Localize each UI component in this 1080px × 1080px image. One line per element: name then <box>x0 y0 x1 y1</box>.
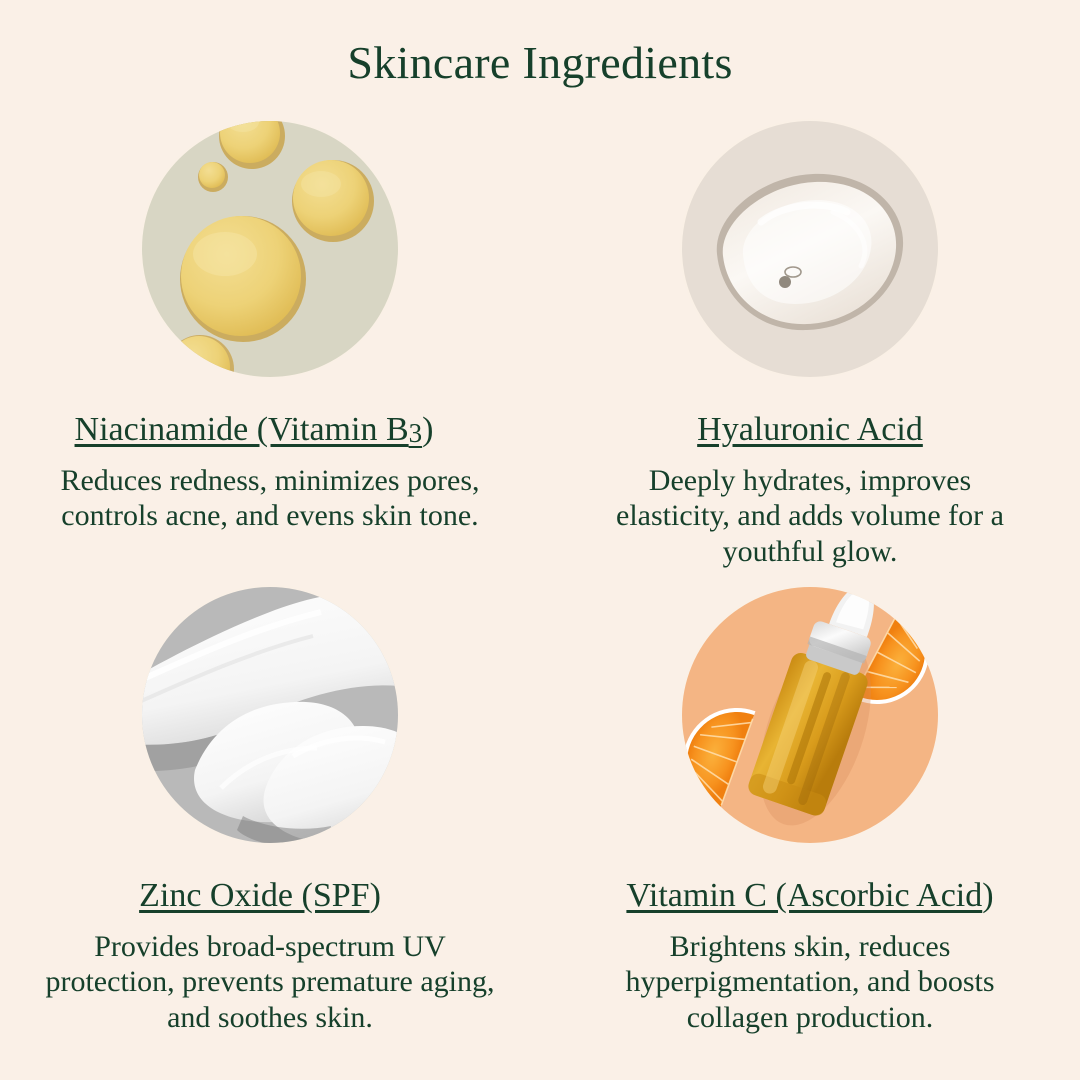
clear-gel-blob-photo <box>665 104 955 394</box>
oil-droplets-photo <box>125 104 415 394</box>
ingredient-heading-sub: 3 <box>409 418 423 448</box>
ingredient-heading-tail: ) <box>422 411 433 448</box>
ingredient-heading-tail: ) <box>982 877 993 914</box>
ingredient-heading-main: Hyaluronic Acid <box>697 411 923 448</box>
ingredient-description: Reduces redness, minimizes pores, contro… <box>60 463 480 534</box>
ingredient-heading-main: Niacinamide (Vitamin B <box>75 411 409 448</box>
ingredient-description: Deeply hydrates, improves elasticity, an… <box>595 463 1025 569</box>
ingredient-heading-main: Vitamin C (Ascorbic Acid <box>626 877 982 914</box>
ingredient-card-vitamin-c[interactable]: Vitamin C (Ascorbic Acid) Brightens skin… <box>540 570 1080 1035</box>
ingredient-heading: Hyaluronic Acid <box>540 410 1080 449</box>
ingredient-heading: Zinc Oxide (SPF) <box>0 876 530 915</box>
ingredient-description: Brightens skin, reduces hyperpigmentatio… <box>595 929 1025 1035</box>
ingredient-grid: Niacinamide (Vitamin B3) Reduces redness… <box>0 0 1080 1080</box>
ingredient-description: Provides broad-spectrum UV protection, p… <box>45 929 495 1035</box>
white-cream-swatch-photo <box>125 570 415 860</box>
ingredient-card-hyaluronic-acid[interactable]: Hyaluronic Acid Deeply hydrates, improve… <box>540 104 1080 569</box>
ingredient-heading-tail: ) <box>370 877 381 914</box>
ingredient-heading-main: Zinc Oxide (SPF <box>139 877 369 914</box>
vitamin-c-serum-bottle-photo <box>665 570 955 860</box>
ingredient-heading: Vitamin C (Ascorbic Acid) <box>540 876 1080 915</box>
ingredient-card-niacinamide[interactable]: Niacinamide (Vitamin B3) Reduces redness… <box>0 104 540 534</box>
infographic-page: Skincare Ingredients <box>0 0 1080 1080</box>
ingredient-card-zinc-oxide[interactable]: Zinc Oxide (SPF) Provides broad-spectrum… <box>0 570 540 1035</box>
ingredient-heading: Niacinamide (Vitamin B3) <box>0 410 524 449</box>
